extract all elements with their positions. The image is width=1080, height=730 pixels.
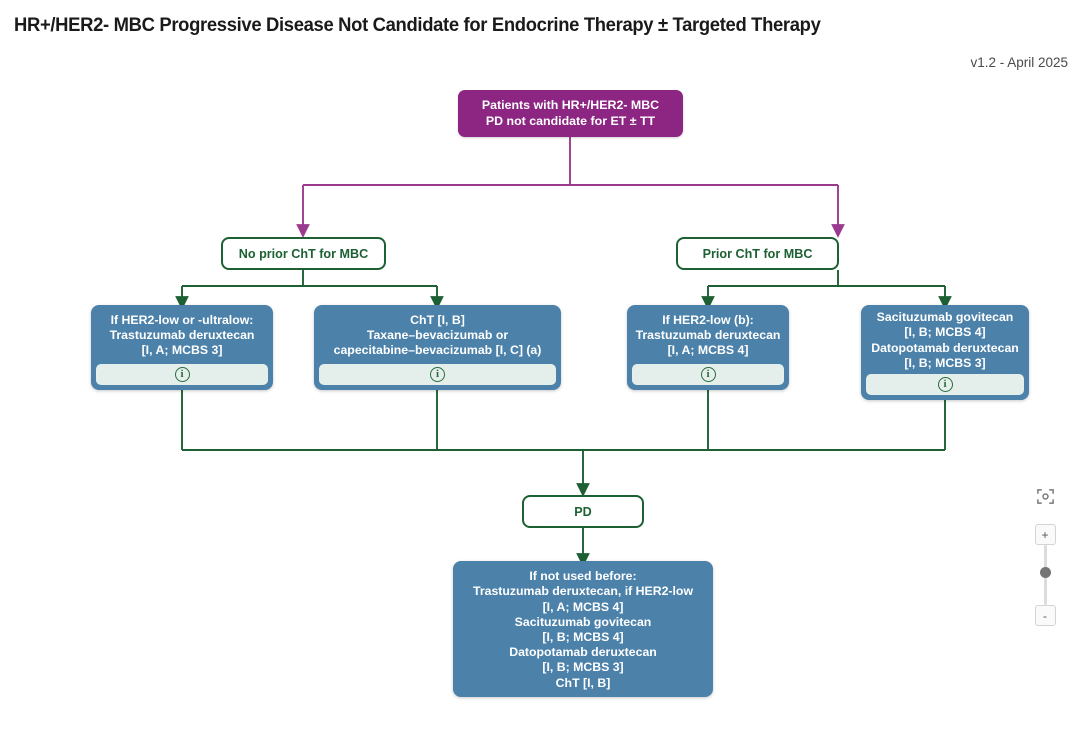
node-line: If HER2-low or -ultralow:	[97, 313, 267, 328]
edge-group-root	[303, 137, 838, 231]
node-line: [I, A; MCBS 4]	[633, 343, 783, 358]
zoom-out-button[interactable]: -	[1035, 605, 1056, 626]
node-line: [I, A; MCBS 4]	[459, 600, 707, 615]
fit-to-screen-icon[interactable]	[1036, 487, 1055, 506]
node-treatment-cht-taxane-bevacizumab[interactable]: ChT [I, B] Taxane–bevacizumab or capecit…	[314, 305, 561, 390]
node-final-treatment-options[interactable]: If not used before: Trastuzumab deruxtec…	[453, 561, 713, 697]
edge-group-left-branch	[182, 270, 437, 303]
node-line: Trastuzumab deruxtecan	[97, 328, 267, 343]
info-strip[interactable]: i	[866, 374, 1024, 395]
node-line: Patients with HR+/HER2- MBC	[482, 98, 659, 114]
treatment-text: ChT [I, B] Taxane–bevacizumab or capecit…	[314, 305, 561, 364]
node-line: Trastuzumab deruxtecan, if HER2-low	[459, 584, 707, 599]
treatment-text: If HER2-low or -ultralow: Trastuzumab de…	[91, 305, 273, 364]
node-line: [I, B; MCBS 4]	[867, 325, 1023, 340]
node-decision-prior-cht[interactable]: Prior ChT for MBC	[676, 237, 839, 270]
info-strip[interactable]: i	[632, 364, 784, 385]
info-icon[interactable]: i	[701, 367, 716, 382]
node-line: capecitabine–bevacizumab [I, C] (a)	[320, 343, 555, 358]
node-line: [I, B; MCBS 3]	[867, 356, 1023, 371]
info-strip[interactable]: i	[96, 364, 268, 385]
zoom-in-button[interactable]: +	[1035, 524, 1056, 545]
node-line: PD not candidate for ET ± TT	[486, 114, 655, 130]
node-line: If not used before:	[459, 569, 707, 584]
node-label: Prior ChT for MBC	[703, 247, 813, 261]
node-line: ChT [I, B]	[459, 676, 707, 691]
node-line: Sacituzumab govitecan	[459, 615, 707, 630]
node-line: Sacituzumab govitecan	[867, 310, 1023, 325]
treatment-text: Sacituzumab govitecan [I, B; MCBS 4] Dat…	[861, 305, 1029, 374]
node-line: If HER2-low (b):	[633, 313, 783, 328]
edge-group-right-branch	[708, 270, 945, 303]
zoom-controls[interactable]: + -	[1032, 487, 1058, 626]
zoom-slider-thumb[interactable]	[1040, 567, 1051, 578]
treatment-text: If HER2-low (b): Trastuzumab deruxtecan …	[627, 305, 789, 364]
zoom-slider-track[interactable]	[1044, 545, 1047, 605]
node-patients-root[interactable]: Patients with HR+/HER2- MBC PD not candi…	[458, 90, 683, 137]
info-icon[interactable]: i	[430, 367, 445, 382]
node-treatment-trastuzumab-deruxtecan-low-b[interactable]: If HER2-low (b): Trastuzumab deruxtecan …	[627, 305, 789, 390]
node-label: PD	[574, 505, 592, 519]
edge-group-convergence	[182, 390, 945, 490]
info-icon[interactable]: i	[938, 377, 953, 392]
node-line: Taxane–bevacizumab or	[320, 328, 555, 343]
node-line: [I, B; MCBS 4]	[459, 630, 707, 645]
node-line: ChT [I, B]	[320, 313, 555, 328]
diagram-page: HR+/HER2- MBC Progressive Disease Not Ca…	[0, 0, 1080, 730]
node-treatment-trastuzumab-deruxtecan-low-ultralow[interactable]: If HER2-low or -ultralow: Trastuzumab de…	[91, 305, 273, 390]
flowchart-canvas[interactable]: Patients with HR+/HER2- MBC PD not candi…	[0, 0, 1080, 730]
node-line: [I, B; MCBS 3]	[459, 660, 707, 675]
node-line: Datopotamab deruxtecan	[867, 341, 1023, 356]
node-decision-no-prior-cht[interactable]: No prior ChT for MBC	[221, 237, 386, 270]
node-label: No prior ChT for MBC	[239, 247, 368, 261]
treatment-text: If not used before: Trastuzumab deruxtec…	[453, 561, 713, 697]
node-line: Trastuzumab deruxtecan	[633, 328, 783, 343]
info-icon[interactable]: i	[175, 367, 190, 382]
node-line: Datopotamab deruxtecan	[459, 645, 707, 660]
node-line: [I, A; MCBS 3]	[97, 343, 267, 358]
info-strip[interactable]: i	[319, 364, 556, 385]
node-treatment-sacituzumab-datopotamab[interactable]: Sacituzumab govitecan [I, B; MCBS 4] Dat…	[861, 305, 1029, 400]
node-progressive-disease[interactable]: PD	[522, 495, 644, 528]
